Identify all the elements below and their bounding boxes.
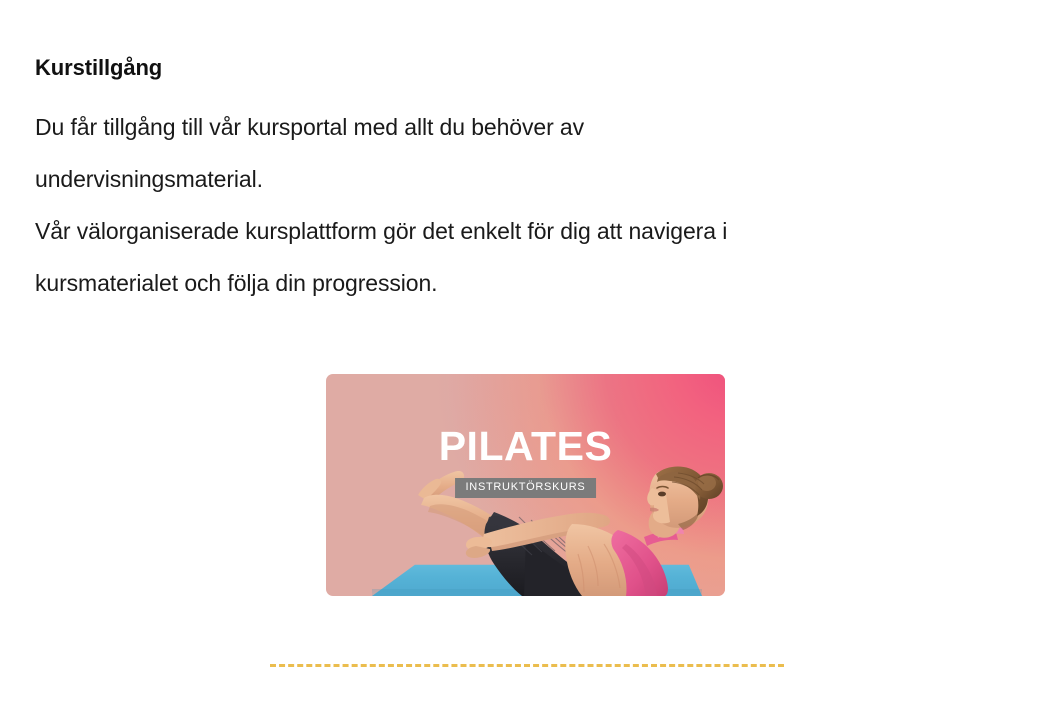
- page-title: Kurstillgång: [35, 56, 1015, 80]
- body-paragraph-line-3: Vår välorganiserade kursplattform gör de…: [35, 205, 1015, 257]
- body-paragraph-line-2: undervisningsmaterial.: [35, 153, 1015, 205]
- course-card[interactable]: PILATES INSTRUKTÖRSKURS: [326, 374, 725, 596]
- content-text-block: Kurstillgång Du får tillgång till vår ku…: [35, 56, 1015, 309]
- body-paragraph-line-1: Du får tillgång till vår kursportal med …: [35, 101, 1015, 153]
- card-title: PILATES: [326, 426, 725, 467]
- course-card-container[interactable]: PILATES INSTRUKTÖRSKURS: [326, 374, 725, 596]
- body-paragraph-line-4: kursmaterialet och följa din progression…: [35, 257, 1015, 309]
- dashed-divider: [270, 664, 784, 667]
- slide-page: Kurstillgång Du får tillgång till vår ku…: [0, 0, 1058, 724]
- status-badge: INSTRUKTÖRSKURS: [455, 478, 597, 498]
